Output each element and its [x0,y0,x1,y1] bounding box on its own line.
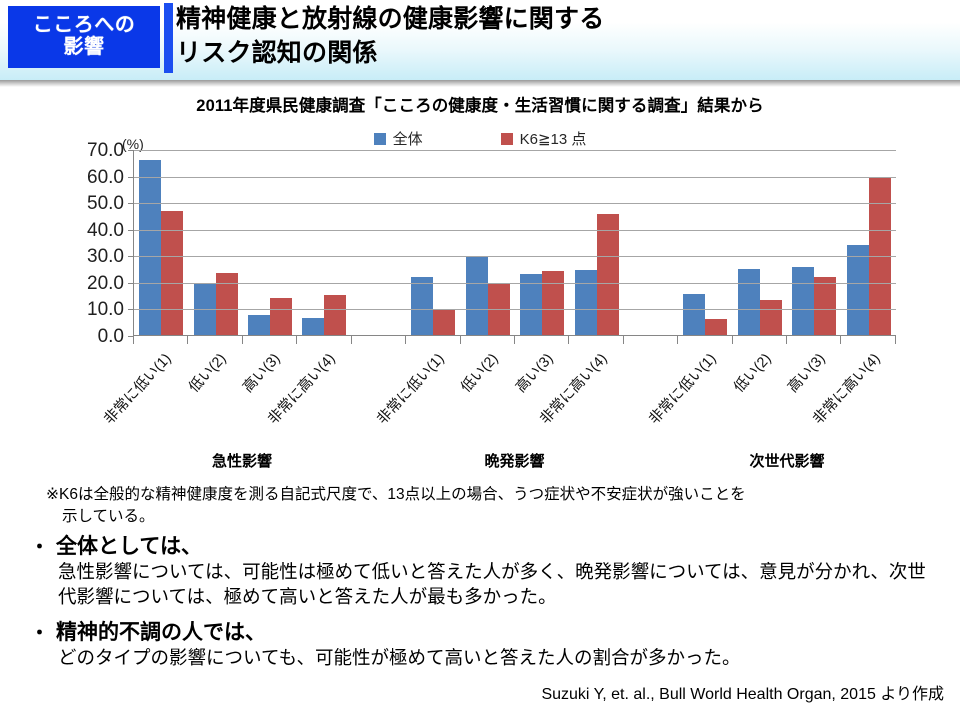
bar [847,245,869,335]
x-axis-category-cell: 非常に低い(1) [406,344,461,454]
y-axis-tick [128,177,134,178]
x-axis-tick [841,336,895,344]
bullet-heading-text-2: 精神的不調の人では、 [56,620,266,646]
x-axis-tick [188,336,242,344]
bar-group [515,150,569,335]
legend-swatch-icon [501,133,513,145]
bar-group [134,150,188,335]
page-title: 精神健康と放射線の健康影響に関する リスク認知の関係 [176,3,956,71]
bar [792,267,814,335]
bullet-block-1: ・ 全体としては、 急性影響については、可能性は極めて低いと答えた人が多く、晩発… [30,534,940,609]
legend-swatch-icon [374,133,386,145]
bar [466,257,488,335]
x-axis-category-label: 非常に低い(1) [99,348,176,428]
y-axis-tick-label: 30.0 [56,247,124,266]
bullet-body-2: どのタイプの影響についても、可能性が極めて高いと答えた人の割合が多かった。 [30,646,940,671]
y-axis-tick [128,309,134,310]
gridline [134,283,896,284]
bar [738,269,760,335]
gridline [134,309,896,310]
x-axis-group-label: 晩発影響 [406,450,624,471]
x-axis-category-cell: 非常に高い(4) [842,344,897,454]
bar [575,270,597,335]
bar-group [297,150,351,335]
bullet-marker-icon: ・ [30,538,49,557]
bar [705,319,727,335]
x-axis-tick [406,336,460,344]
y-axis-tick-label: 20.0 [56,274,124,293]
y-axis-tick-label: 60.0 [56,168,124,187]
legend-item-0: 全体 [374,128,423,149]
gridline [134,150,896,151]
page-title-line1: 精神健康と放射線の健康影響に関する [176,3,956,37]
header-divider [0,80,960,87]
slide-header: こころへの 影響 精神健康と放射線の健康影響に関する リスク認知の関係 [0,0,960,80]
bar-group [406,150,460,335]
x-axis-category-labels: 非常に低い(1)低い(2)高い(3)非常に高い(4)非常に低い(1)低い(2)高… [133,344,896,454]
bar [814,277,836,335]
bar-group [243,150,297,335]
bar [411,277,433,335]
y-axis-tick-label: 10.0 [56,300,124,319]
gridline [134,203,896,204]
category-badge: こころへの 影響 [8,6,160,68]
bar-group [188,150,242,335]
bar [683,294,705,335]
chart-title: 2011年度県民健康調査「こころの健康度・生活習慣に関する調査」結果から [0,92,960,116]
slide-root: こころへの 影響 精神健康と放射線の健康影響に関する リスク認知の関係 2011… [0,0,960,720]
x-axis-tick [569,336,623,344]
bar-group [787,150,841,335]
gridline [134,230,896,231]
legend-label: K6≧13 点 [520,128,587,149]
x-axis-tick [243,336,297,344]
x-axis-category-label: 高い(3) [237,348,284,397]
bullet-marker-icon: ・ [30,624,49,643]
page-title-line2: リスク認知の関係 [176,37,956,71]
bar-group [624,150,678,335]
bar-group [569,150,623,335]
y-axis-tick-label: 50.0 [56,194,124,213]
x-axis-category-cell: 低い(2) [188,344,243,454]
x-axis-category-cell: 非常に高い(4) [297,344,352,454]
footnote: ※K6は全般的な精神健康度を測る自記式尺度で、13点以上の場合、うつ症状や不安症… [46,484,936,528]
bar-group [678,150,732,335]
bullet-block-2: ・ 精神的不調の人では、 どのタイプの影響についても、可能性が極めて高いと答えた… [30,620,940,671]
y-axis-tick-label: 40.0 [56,221,124,240]
x-axis-tick [624,336,678,344]
x-axis-tick [515,336,569,344]
x-axis-tick [787,336,841,344]
bullet-heading-text-1: 全体としては、 [56,534,202,560]
bullet-body-1: 急性影響については、可能性は極めて低いと答えた人が多く、晩発影響については、意見… [30,560,940,609]
x-axis-category-label: 高い(3) [510,348,557,397]
bullet-heading-1: ・ 全体としては、 [30,534,940,560]
bar [248,315,270,335]
gridline [134,177,896,178]
gridline [134,256,896,257]
plot-canvas [133,150,896,336]
bar-group [733,150,787,335]
legend-item-1: K6≧13 点 [501,128,587,149]
bar-series-container [134,150,896,335]
x-axis-tick [733,336,787,344]
bar-group [461,150,515,335]
x-axis-tick [297,336,351,344]
bar [302,318,324,335]
x-axis-tick [133,336,188,344]
x-axis-tick [678,336,732,344]
x-axis-category-label: 低い(2) [183,348,230,397]
bar-group [841,150,895,335]
bar [270,298,292,335]
x-axis-tick [461,336,515,344]
footnote-line1: ※K6は全般的な精神健康度を測る自記式尺度で、13点以上の場合、うつ症状や不安症… [46,486,746,503]
y-axis-tick [128,283,134,284]
y-axis-tick-label: 70.0 [56,141,124,160]
bar [760,300,782,335]
y-axis-tick [128,150,134,151]
footnote-line2: 示している。 [46,506,936,528]
bar [324,295,346,335]
legend-label: 全体 [393,128,423,149]
badge-line1: こころへの [33,15,136,37]
x-axis-tick [352,336,406,344]
chart-legend: 全体K6≧13 点 [0,128,960,149]
x-axis-group-labels: 急性影響晩発影響次世代影響 [133,450,896,474]
x-axis-category-cell: 低い(2) [733,344,788,454]
x-axis-ticks [133,336,896,344]
bar [433,310,455,335]
chart-plot-area: (%) 70.060.050.040.030.020.010.00.0 非常に低… [0,150,960,490]
x-axis-category-label: 高い(3) [782,348,829,397]
x-axis-category-cell: 低い(2) [460,344,515,454]
x-axis-category-cell: 非常に高い(4) [569,344,624,454]
x-axis-category-cell: 非常に低い(1) [133,344,188,454]
badge-line2: 影響 [64,37,105,59]
y-axis-tick [128,256,134,257]
y-axis-labels: 70.060.050.040.030.020.010.00.0 [56,150,124,336]
y-axis-tick [128,230,134,231]
x-axis-group-label: 急性影響 [133,450,351,471]
bar [542,271,564,335]
x-axis-group-label: 次世代影響 [678,450,896,471]
x-axis-category-label: 低い(2) [455,348,502,397]
x-axis-category-cell: 非常に低い(1) [678,344,733,454]
x-axis-category-label: 低い(2) [728,348,775,397]
bar-group [352,150,406,335]
y-axis-tick-label: 0.0 [56,327,124,346]
bar [597,214,619,335]
bullet-heading-2: ・ 精神的不調の人では、 [30,620,940,646]
source-citation: Suzuki Y, et. al., Bull World Health Org… [0,680,944,704]
title-accent-bar [164,3,173,73]
y-axis-tick [128,203,134,204]
